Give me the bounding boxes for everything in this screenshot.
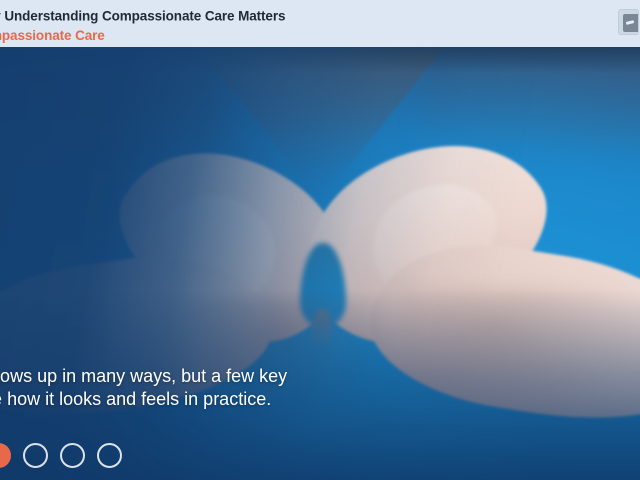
image-thumbnail-icon — [623, 14, 639, 32]
media-thumbnail-button[interactable] — [618, 9, 639, 35]
page-subtitle: ents of Compassionate Care — [0, 27, 640, 44]
carousel-dot-4[interactable] — [97, 443, 122, 468]
carousel-dot-1[interactable] — [0, 443, 11, 468]
page-header: Briefs® Why Understanding Compassionate … — [0, 0, 640, 47]
carousel-dot-3[interactable] — [60, 443, 85, 468]
hero-caption-line-1: passion shows up in many ways, but a few… — [0, 365, 434, 388]
hero-caption: passion shows up in many ways, but a few… — [0, 365, 434, 411]
carousel-dot-2[interactable] — [23, 443, 48, 468]
page-title-rest: Why Understanding Compassionate Care Mat… — [0, 9, 285, 24]
page-title: Briefs® Why Understanding Compassionate … — [0, 4, 640, 25]
hero-caption-line-2: ents define how it looks and feels in pr… — [0, 388, 434, 411]
hero-slide: passion shows up in many ways, but a few… — [0, 47, 640, 480]
carousel-indicators[interactable] — [0, 443, 122, 468]
header-text-block: Briefs® Why Understanding Compassionate … — [0, 4, 640, 44]
screenshot-viewport: Briefs® Why Understanding Compassionate … — [0, 0, 640, 480]
